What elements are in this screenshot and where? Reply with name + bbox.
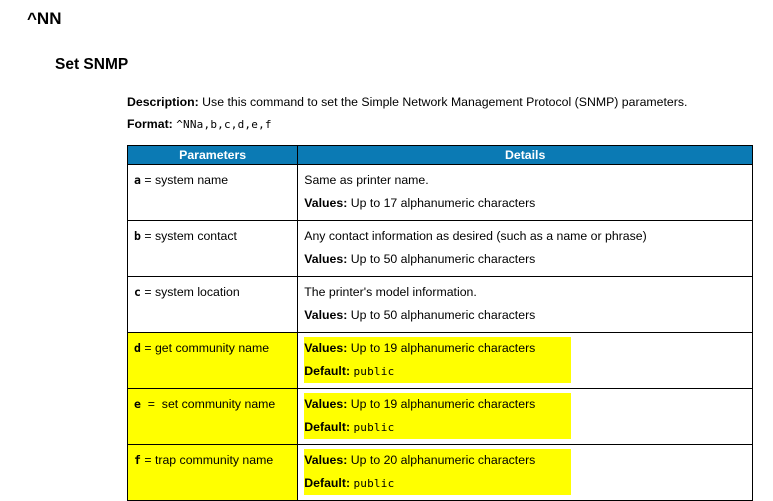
default-label: Default:: [304, 364, 350, 378]
values-text: Up to 20 alphanumeric characters: [347, 453, 535, 467]
table-header-row: Parameters Details: [128, 146, 753, 165]
description-label: Description:: [127, 95, 199, 109]
table-row: a = system nameSame as printer name.Valu…: [128, 165, 753, 221]
command-code-heading: ^NN: [27, 9, 61, 29]
default-value: public: [353, 421, 394, 434]
detail-values-line: Values: Up to 50 alphanumeric characters: [304, 304, 746, 327]
details-cell: Values: Up to 20 alphanumeric characters…: [298, 445, 753, 501]
detail-values-line: Values: Up to 20 alphanumeric characters: [304, 449, 571, 472]
description-text: Use this command to set the Simple Netwo…: [202, 95, 687, 109]
values-label: Values:: [304, 397, 347, 411]
values-label: Values:: [304, 453, 347, 467]
detail-values-line: Values: Up to 19 alphanumeric characters: [304, 393, 571, 416]
values-text: Up to 19 alphanumeric characters: [347, 397, 535, 411]
column-header-details: Details: [298, 146, 753, 165]
parameter-letter: b: [134, 229, 141, 243]
parameter-letter: a: [134, 173, 141, 187]
parameter-cell: d = get community name: [128, 333, 298, 389]
table-row: c = system locationThe printer's model i…: [128, 277, 753, 333]
command-meta-block: Description: Use this command to set the…: [127, 91, 767, 136]
detail-text: The printer's model information.: [304, 281, 746, 304]
description-row: Description: Use this command to set the…: [127, 91, 767, 113]
detail-text: Any contact information as desired (such…: [304, 225, 746, 248]
column-header-parameters: Parameters: [128, 146, 298, 165]
detail-text: Same as printer name.: [304, 169, 746, 192]
parameter-name: set community name: [162, 397, 275, 411]
table-row: e = set community nameValues: Up to 19 a…: [128, 389, 753, 445]
details-cell: The printer's model information.Values: …: [298, 277, 753, 333]
values-text: Up to 50 alphanumeric characters: [347, 252, 535, 266]
parameter-cell: a = system name: [128, 165, 298, 221]
details-cell: Values: Up to 19 alphanumeric characters…: [298, 389, 753, 445]
table-row: f = trap community nameValues: Up to 20 …: [128, 445, 753, 501]
document-page: ^NN Set SNMP Description: Use this comma…: [0, 0, 773, 464]
details-cell: Values: Up to 19 alphanumeric characters…: [298, 333, 753, 389]
detail-values-line: Values: Up to 50 alphanumeric characters: [304, 248, 746, 271]
page-title: Set SNMP: [55, 55, 128, 74]
table-row: d = get community nameValues: Up to 19 a…: [128, 333, 753, 389]
format-row: Format: ^NNa,b,c,d,e,f: [127, 113, 767, 136]
format-value: ^NNa,b,c,d,e,f: [176, 118, 272, 131]
detail-default-line: Default: public: [304, 416, 571, 439]
parameter-name: trap community name: [155, 453, 273, 467]
parameter-cell: c = system location: [128, 277, 298, 333]
parameter-separator: =: [141, 341, 155, 355]
values-text: Up to 50 alphanumeric characters: [347, 308, 535, 322]
parameter-name: system contact: [155, 229, 237, 243]
values-label: Values:: [304, 196, 347, 210]
detail-values-line: Values: Up to 19 alphanumeric characters: [304, 337, 571, 360]
parameter-separator: =: [141, 173, 155, 187]
parameter-name: get community name: [155, 341, 269, 355]
parameter-separator: =: [141, 285, 155, 299]
parameter-separator: =: [141, 397, 162, 411]
parameter-cell: b = system contact: [128, 221, 298, 277]
values-text: Up to 17 alphanumeric characters: [347, 196, 535, 210]
parameters-table: Parameters Details a = system nameSame a…: [127, 145, 753, 501]
details-cell: Any contact information as desired (such…: [298, 221, 753, 277]
parameter-name: system name: [155, 173, 228, 187]
parameter-cell: e = set community name: [128, 389, 298, 445]
format-label: Format:: [127, 117, 173, 131]
parameter-separator: =: [141, 229, 155, 243]
detail-values-line: Values: Up to 17 alphanumeric characters: [304, 192, 746, 215]
values-label: Values:: [304, 308, 347, 322]
default-label: Default:: [304, 420, 350, 434]
default-label: Default:: [304, 476, 350, 490]
values-label: Values:: [304, 252, 347, 266]
parameter-letter: d: [134, 341, 141, 355]
details-cell: Same as printer name.Values: Up to 17 al…: [298, 165, 753, 221]
table-body: a = system nameSame as printer name.Valu…: [128, 165, 753, 501]
parameter-cell: f = trap community name: [128, 445, 298, 501]
values-label: Values:: [304, 341, 347, 355]
parameter-letter: e: [134, 397, 141, 411]
default-value: public: [353, 365, 394, 378]
parameter-letter: f: [134, 453, 141, 467]
detail-default-line: Default: public: [304, 472, 571, 495]
table-row: b = system contactAny contact informatio…: [128, 221, 753, 277]
detail-default-line: Default: public: [304, 360, 571, 383]
parameter-letter: c: [134, 285, 141, 299]
parameter-separator: =: [141, 453, 155, 467]
default-value: public: [353, 477, 394, 490]
parameter-name: system location: [155, 285, 240, 299]
values-text: Up to 19 alphanumeric characters: [347, 341, 535, 355]
